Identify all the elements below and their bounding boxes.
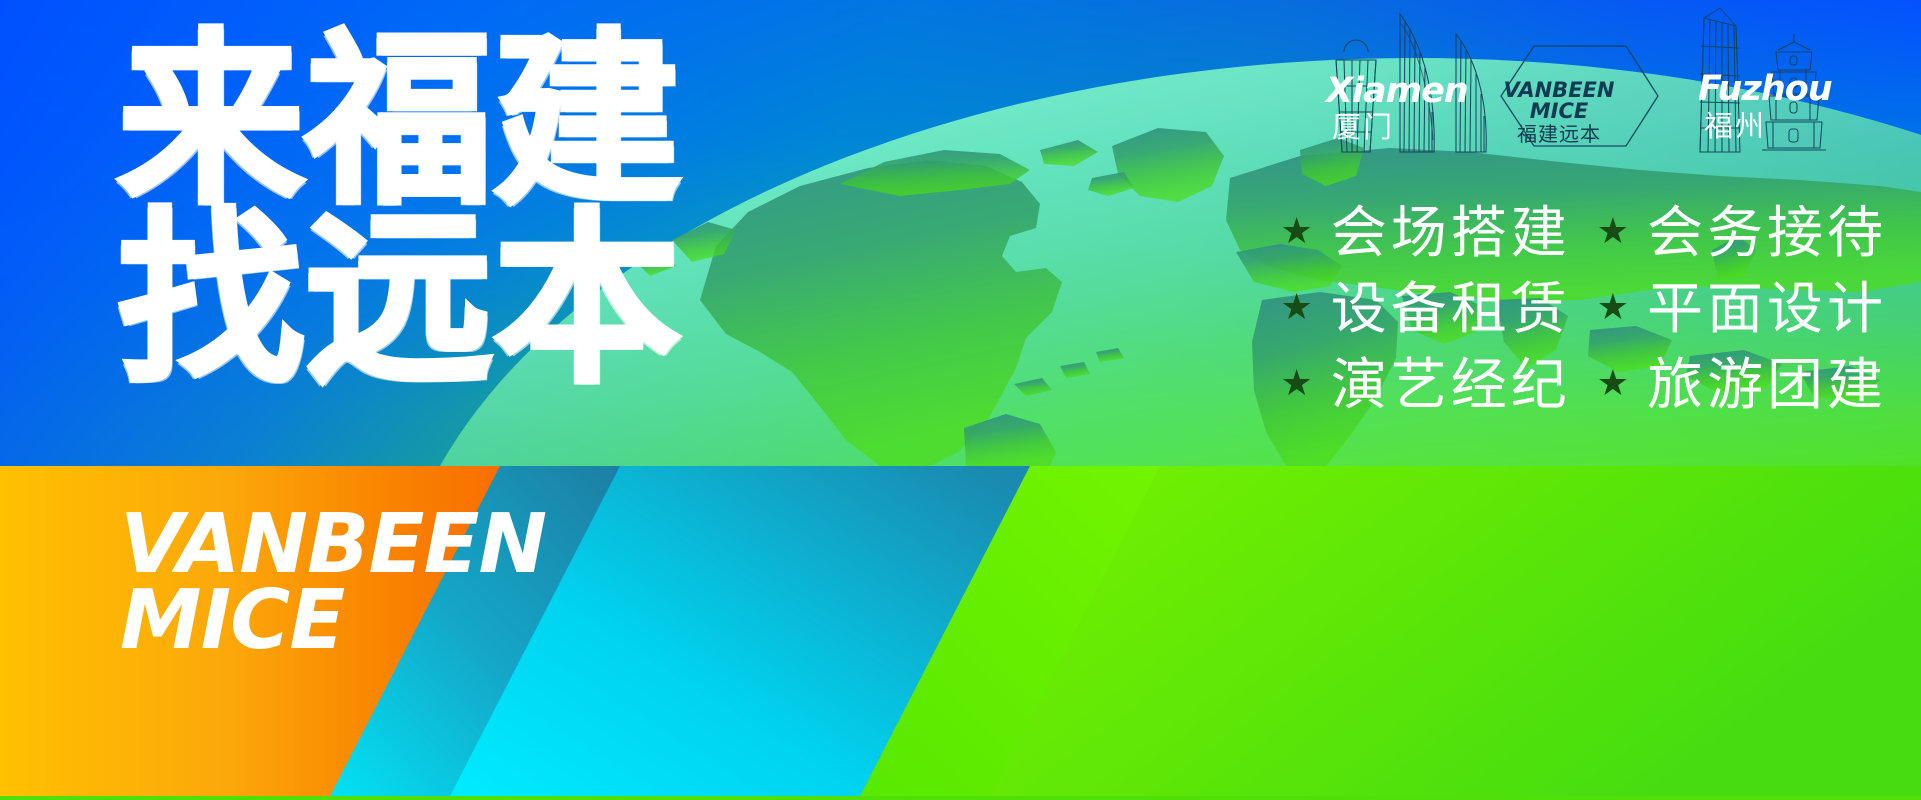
hero-section: 来福建 找远本 ★ 会场搭建 ★ 会务接待 ★ 设备租赁	[0, 0, 1921, 466]
service-item: ★ 会场搭建	[1280, 206, 1570, 262]
service-item: ★ 演艺经纪	[1280, 358, 1570, 414]
service-row: ★ 设备租赁 ★ 平面设计	[1280, 282, 1887, 338]
city-label-fuzhou-en: Fuzhou	[1698, 72, 1832, 107]
star-icon: ★	[1280, 213, 1312, 249]
service-label: 会场搭建	[1331, 206, 1571, 262]
brand-line-2: MICE	[120, 583, 546, 659]
star-icon: ★	[1597, 365, 1629, 401]
city-logo-cluster: Xiamen 厦门 Fuzhou 福州 VANBEEN MICE 福建远本	[1296, 0, 1921, 190]
service-label: 会务接待	[1647, 206, 1887, 262]
service-list: ★ 会场搭建 ★ 会务接待 ★ 设备租赁 ★ 平面设计	[1280, 206, 1887, 414]
service-label: 旅游团建	[1647, 358, 1887, 414]
hex-logo-line-3: 福建远本	[1494, 124, 1624, 144]
service-item: ★ 会务接待	[1597, 206, 1887, 262]
brand-wordmark: VANBEEN MICE	[120, 507, 546, 660]
headline-line-1: 来福建	[118, 34, 682, 209]
service-item: ★ 旅游团建	[1597, 358, 1887, 414]
service-item: ★ 平面设计	[1597, 282, 1887, 338]
bottom-ribbon: VANBEEN MICE	[0, 466, 1921, 800]
headline: 来福建 找远本	[118, 34, 682, 388]
city-label-fuzhou-cn: 福州	[1704, 112, 1766, 141]
brand-line-1: VANBEEN	[120, 507, 546, 583]
service-row: ★ 会场搭建 ★ 会务接待	[1280, 206, 1887, 262]
city-label-xiamen-en: Xiamen	[1326, 74, 1468, 109]
star-icon: ★	[1280, 289, 1312, 325]
star-icon: ★	[1597, 213, 1629, 249]
hex-logo-line-1: VANBEEN	[1494, 80, 1624, 101]
service-row: ★ 演艺经纪 ★ 旅游团建	[1280, 358, 1887, 414]
star-icon: ★	[1597, 289, 1629, 325]
headline-line-2: 找远本	[118, 213, 682, 388]
service-label: 平面设计	[1647, 282, 1887, 338]
service-item: ★ 设备租赁	[1280, 282, 1570, 338]
promotional-banner: 来福建 找远本 ★ 会场搭建 ★ 会务接待 ★ 设备租赁	[0, 0, 1921, 800]
star-icon: ★	[1280, 365, 1312, 401]
city-label-xiamen-cn: 厦门	[1332, 113, 1394, 142]
hex-logo-line-2: MICE	[1494, 101, 1624, 122]
service-label: 设备租赁	[1331, 282, 1571, 338]
service-label: 演艺经纪	[1331, 358, 1571, 414]
